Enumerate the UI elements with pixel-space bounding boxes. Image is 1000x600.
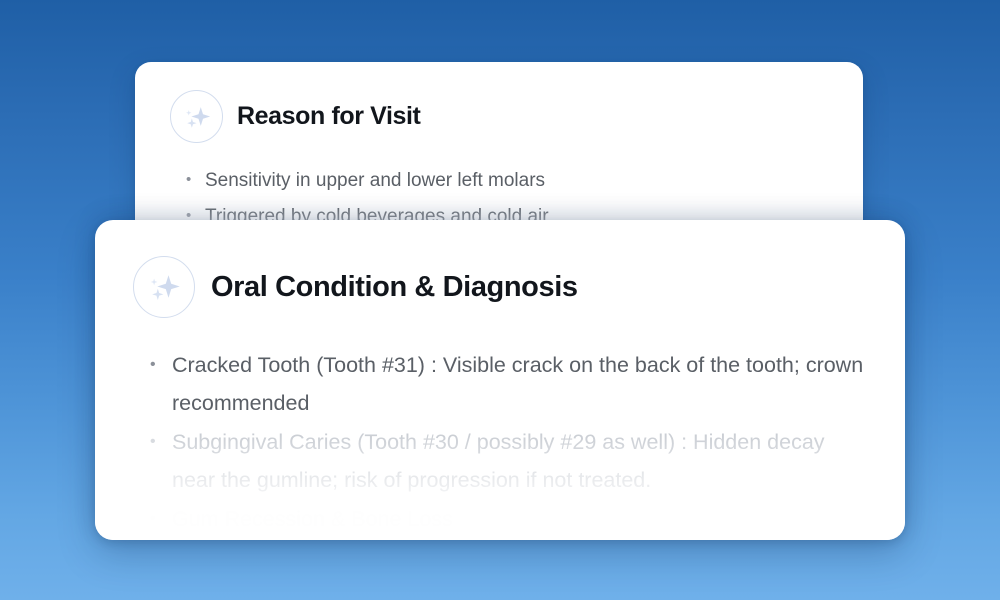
page-title-oral-condition-diagnosis: Oral Condition & Diagnosis	[211, 271, 578, 304]
list-item: Gum Recession & Bone Loss	[150, 500, 867, 538]
card-oral-condition-diagnosis[interactable]: Oral Condition & Diagnosis Cracked Tooth…	[95, 220, 905, 540]
list-item: Cracked Tooth (Tooth #31) : Visible crac…	[150, 346, 867, 422]
diagnosis-bullet-list: Cracked Tooth (Tooth #31) : Visible crac…	[95, 318, 905, 538]
sparkle-icon	[170, 90, 223, 143]
reason-bullet-list: Sensitivity in upper and lower left mola…	[135, 143, 863, 230]
canvas: Reason for Visit Sensitivity in upper an…	[0, 0, 1000, 600]
page-title-reason-for-visit: Reason for Visit	[237, 102, 420, 131]
sparkle-icon	[133, 256, 195, 318]
card-header: Oral Condition & Diagnosis	[95, 220, 905, 318]
list-item: Sensitivity in upper and lower left mola…	[186, 163, 863, 199]
card-reason-for-visit[interactable]: Reason for Visit Sensitivity in upper an…	[135, 62, 863, 230]
card-header: Reason for Visit	[135, 62, 863, 143]
list-item: Subgingival Caries (Tooth #30 / possibly…	[150, 423, 867, 499]
